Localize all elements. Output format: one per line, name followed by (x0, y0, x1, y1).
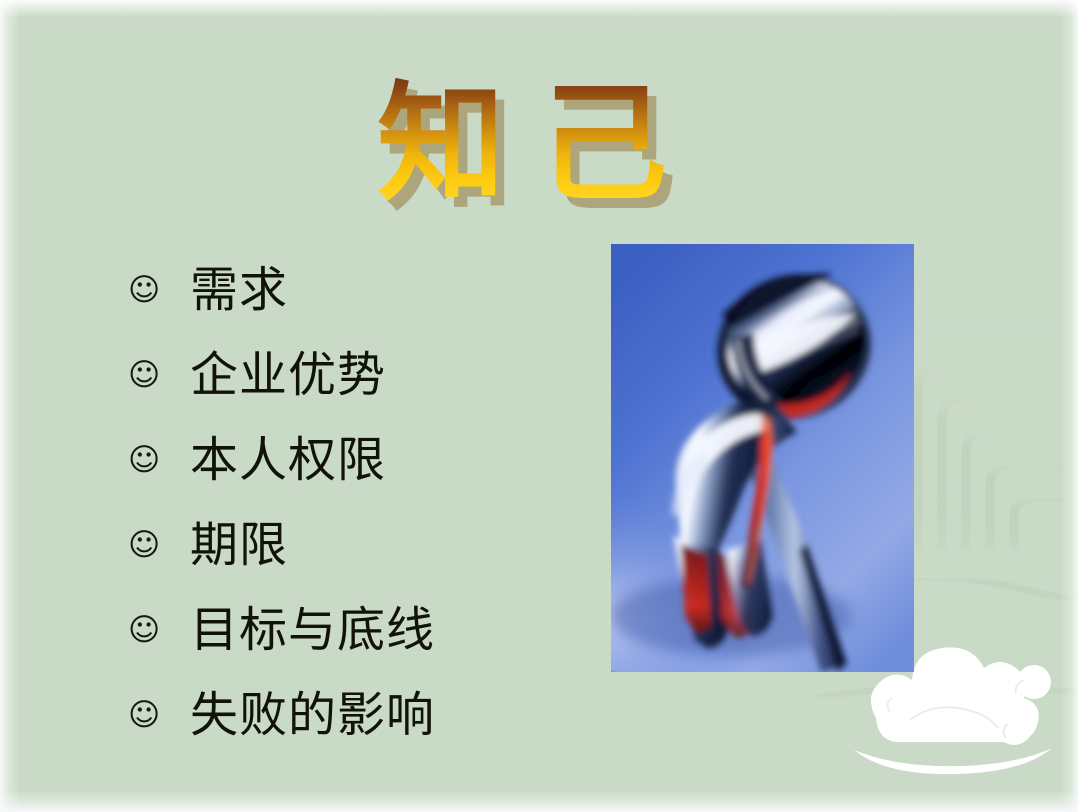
list-item-label: 失败的影响 (190, 692, 598, 740)
title-stack: 知己 知己 (377, 78, 701, 214)
list-item[interactable]: ☺ 目标与底线 (128, 588, 598, 673)
list-item[interactable]: ☺ 期限 (128, 503, 598, 588)
list-item-label: 企业优势 (190, 352, 598, 400)
list-item-label: 目标与底线 (190, 607, 598, 655)
smiley-face-icon: ☺ (128, 530, 160, 561)
list-item-label: 期限 (190, 522, 598, 570)
chrome-hammer-photo[interactable] (611, 244, 914, 672)
list-item-label: 本人权限 (190, 437, 598, 485)
slide-title: 知己 知己 (0, 78, 1078, 214)
smiley-face-icon: ☺ (128, 360, 160, 391)
list-item[interactable]: ☺ 企业优势 (128, 333, 598, 418)
list-item[interactable]: ☺ 失败的影响 (128, 673, 598, 758)
list-item-label: 需求 (190, 267, 598, 315)
list-item[interactable]: ☺ 本人权限 (128, 418, 598, 503)
presentation-slide: 知己 知己 ☺ 需求 ☺ 企业优势 ☺ 本人权限 ☺ 期限 ☺ 目标与底线 ☺ … (0, 0, 1078, 812)
smiley-face-icon: ☺ (128, 445, 160, 476)
bullet-list: ☺ 需求 ☺ 企业优势 ☺ 本人权限 ☺ 期限 ☺ 目标与底线 ☺ 失败的影响 (128, 248, 598, 758)
list-item[interactable]: ☺ 需求 (128, 248, 598, 333)
title-text: 知己 (377, 74, 701, 216)
smiley-face-icon: ☺ (128, 700, 160, 731)
smiley-face-icon: ☺ (128, 615, 160, 646)
smiley-face-icon: ☺ (128, 275, 160, 306)
